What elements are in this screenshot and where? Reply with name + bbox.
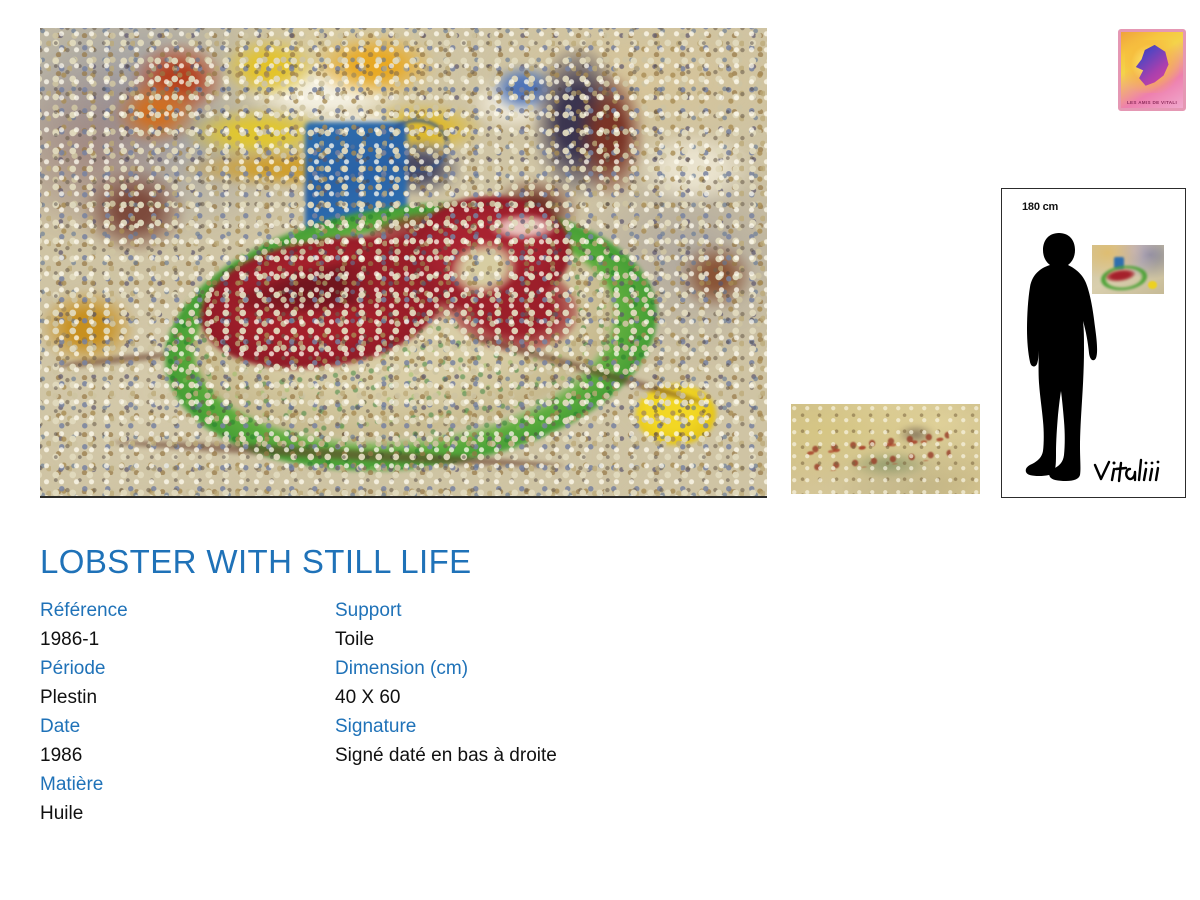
artist-signature-mark — [1090, 455, 1176, 489]
field-dimension: Dimension (cm) 40 X 60 — [335, 654, 855, 712]
metadata-block: Référence 1986-1 Période Plestin Date 19… — [40, 596, 860, 828]
field-reference-value: 1986-1 — [40, 625, 335, 654]
field-support-label: Support — [335, 596, 855, 625]
brand-logo: LES AMIS DE VITALI — [1118, 29, 1186, 111]
painting-canvas — [40, 28, 767, 496]
metadata-column-left: Référence 1986-1 Période Plestin Date 19… — [40, 596, 335, 828]
scale-height-label: 180 cm — [1022, 201, 1058, 213]
painting-speckle-layer-c — [40, 28, 767, 498]
field-reference-label: Référence — [40, 596, 335, 625]
metadata-column-right: Support Toile Dimension (cm) 40 X 60 Sig… — [335, 596, 855, 770]
thumbnail-lemon — [1148, 281, 1157, 289]
field-date-value: 1986 — [40, 741, 335, 770]
field-matiere-value: Huile — [40, 799, 335, 828]
signature-detail-image — [791, 404, 980, 494]
field-periode-value: Plestin — [40, 683, 335, 712]
page-title: LOBSTER WITH STILL LIFE — [40, 543, 472, 581]
field-date-label: Date — [40, 712, 335, 741]
field-dimension-value: 40 X 60 — [335, 683, 855, 712]
detail-speckle-layer — [791, 404, 980, 494]
field-support-value: Toile — [335, 625, 855, 654]
field-matiere-label: Matière — [40, 770, 335, 799]
main-artwork-image — [40, 28, 767, 498]
scale-reference-panel: 180 cm — [1001, 188, 1186, 498]
field-periode-label: Période — [40, 654, 335, 683]
field-dimension-label: Dimension (cm) — [335, 654, 855, 683]
field-periode: Période Plestin — [40, 654, 335, 712]
field-signature-value: Signé daté en bas à droite — [335, 741, 855, 770]
field-support: Support Toile — [335, 596, 855, 654]
person-silhouette-icon — [1018, 231, 1100, 483]
field-reference: Référence 1986-1 — [40, 596, 335, 654]
field-matiere: Matière Huile — [40, 770, 335, 828]
logo-caption: LES AMIS DE VITALI — [1121, 100, 1183, 105]
field-signature-label: Signature — [335, 712, 855, 741]
field-signature: Signature Signé daté en bas à droite — [335, 712, 855, 770]
artwork-thumbnail — [1092, 245, 1164, 294]
field-date: Date 1986 — [40, 712, 335, 770]
